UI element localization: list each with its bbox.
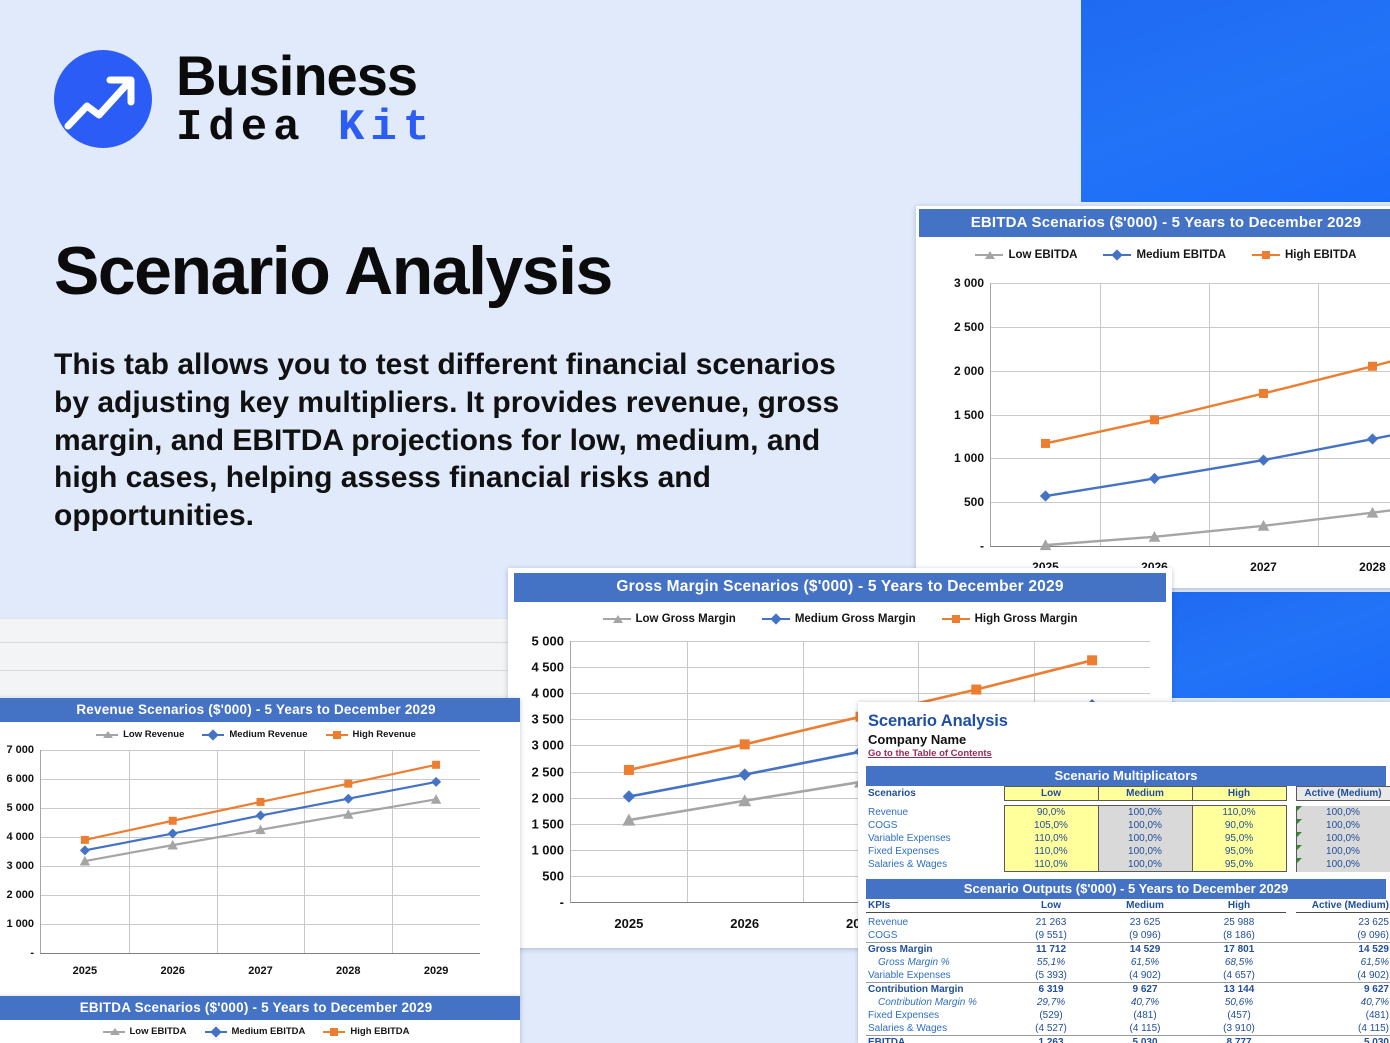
cell-active: (481): [1296, 1009, 1390, 1022]
column-header-low[interactable]: Low: [1004, 787, 1098, 801]
y-tick-label: 4 000: [6, 831, 34, 843]
data-point: [1041, 439, 1050, 448]
cell-medium: 14 529: [1098, 942, 1192, 956]
data-point: [81, 836, 89, 844]
cell-high: 50,6%: [1192, 996, 1286, 1009]
chart-legend-ebitda-bottom: Low EBITDA Medium EBITDA High EBITDA: [0, 1026, 520, 1037]
brand-name-line2-accent: Kit: [338, 103, 435, 153]
data-point: [431, 777, 441, 787]
table-scenario-outputs[interactable]: KPIs Low Medium High Active (Medium) Rev…: [866, 899, 1390, 1043]
cell-high: 17 801: [1192, 942, 1286, 956]
y-tick-label: 1 500: [531, 816, 564, 831]
row-label: Variable Expenses: [866, 832, 1004, 845]
cell-active: 5 030: [1296, 1035, 1390, 1043]
cell-medium: 5 030: [1098, 1035, 1192, 1043]
data-point: [1040, 490, 1051, 501]
cell-low: 1 263: [1004, 1035, 1098, 1043]
square-marker-icon: [1252, 250, 1280, 260]
y-tick-label: 1 500: [954, 408, 984, 422]
multiplicators-row-label: Scenarios: [866, 787, 1004, 801]
x-tick-label: 2029: [424, 965, 448, 977]
data-point: [1259, 389, 1268, 398]
legend-item-low-revenue[interactable]: Low Revenue: [96, 729, 184, 740]
row-label: Revenue: [866, 916, 1004, 929]
cell-high: 8 777: [1192, 1035, 1286, 1043]
cell-active: 61,5%: [1296, 956, 1390, 969]
y-tick-label: 3 000: [954, 276, 984, 290]
y-tick-label: 5 000: [531, 634, 564, 649]
legend-label: Low Gross Margin: [636, 613, 736, 625]
page-description: This tab allows you to test different fi…: [54, 346, 844, 535]
cell-high: (457): [1192, 1009, 1286, 1022]
cell-low: (4 527): [1004, 1022, 1098, 1036]
cell-medium: 23 625: [1098, 916, 1192, 929]
y-tick-label: 1 000: [954, 451, 984, 465]
legend-item-high-gross-margin[interactable]: High Gross Margin: [942, 613, 1078, 625]
table-row[interactable]: Revenue 21 263 23 625 25 988 23 625: [866, 916, 1390, 929]
cell-high: (3 910): [1192, 1022, 1286, 1036]
row-label: Salaries & Wages: [866, 858, 1004, 872]
chart-plot-revenue: -1 0002 0003 0004 0005 0006 0007 000 202…: [0, 740, 520, 980]
y-tick-label: 7 000: [6, 744, 34, 756]
data-point: [1368, 362, 1377, 371]
legend-label: Medium EBITDA: [232, 1026, 306, 1037]
cell-low: 6 319: [1004, 982, 1098, 996]
cell-medium: (4 115): [1098, 1022, 1192, 1036]
data-point: [1258, 454, 1269, 465]
row-label: COGS: [866, 929, 1004, 943]
cell-active: 9 627: [1296, 982, 1390, 996]
table-row-header: KPIs Low Medium High Active (Medium): [866, 899, 1390, 913]
legend-item-high-ebitda[interactable]: High EBITDA: [1252, 249, 1357, 261]
cell-medium[interactable]: 100,0%: [1098, 819, 1192, 832]
cell-low[interactable]: 110,0%: [1004, 858, 1098, 872]
cell-medium[interactable]: 100,0%: [1098, 845, 1192, 858]
data-point: [168, 829, 178, 839]
column-header-medium[interactable]: Medium: [1098, 787, 1192, 801]
cell-high: 25 988: [1192, 916, 1286, 929]
column-header-low: Low: [1004, 899, 1098, 913]
data-point: [971, 685, 981, 695]
table-row[interactable]: Gross Margin % 55,1% 61,5% 68,5% 61,5%: [866, 956, 1390, 969]
scenario-analysis-spreadsheet-panel[interactable]: Scenario Analysis Company Name Go to the…: [858, 702, 1390, 1043]
chart-plot-ebitda: -5001 0001 5002 0002 5003 000 2025202620…: [916, 261, 1390, 561]
column-header-high: High: [1192, 899, 1286, 913]
y-tick-label: 2 000: [954, 364, 984, 378]
series-line-high-ebitda: [1046, 337, 1390, 443]
page-title: Scenario Analysis: [54, 232, 854, 310]
brand-name-line2-dark: Idea: [176, 103, 306, 153]
cell-high: 13 144: [1192, 982, 1286, 996]
cell-low: 11 712: [1004, 942, 1098, 956]
y-tick-label: 4 500: [531, 660, 564, 675]
sheet-company-name: Company Name: [858, 731, 1390, 747]
cell-low: 55,1%: [1004, 956, 1098, 969]
table-row[interactable]: Salaries & Wages (4 527) (4 115) (3 910)…: [866, 1022, 1390, 1036]
y-tick-label: 500: [542, 868, 564, 883]
cell-medium: 9 627: [1098, 982, 1192, 996]
chart-title-revenue: Revenue Scenarios ($'000) - 5 Years to D…: [0, 698, 520, 722]
row-label: Contribution Margin: [866, 982, 1004, 996]
band-scenario-multiplicators: Scenario Multiplicators: [866, 766, 1386, 786]
decorative-blue-block-top-right: [1081, 0, 1390, 202]
y-tick-label: 5 000: [6, 802, 34, 814]
cell-high[interactable]: 95,0%: [1192, 832, 1286, 845]
legend-label: High EBITDA: [1285, 249, 1357, 261]
data-point: [624, 765, 634, 775]
data-point: [80, 845, 90, 855]
cell-low: 29,7%: [1004, 996, 1098, 1009]
legend-item-medium-gross-margin[interactable]: Medium Gross Margin: [762, 613, 916, 625]
column-header-high[interactable]: High: [1192, 787, 1286, 801]
cell-low[interactable]: 90,0%: [1004, 806, 1098, 820]
data-point: [738, 768, 751, 781]
legend-label: Medium EBITDA: [1136, 249, 1225, 261]
y-tick-label: 3 000: [531, 738, 564, 753]
x-tick-label: 2025: [614, 916, 643, 931]
cell-active: 14 529: [1296, 942, 1390, 956]
table-scenario-multiplicators[interactable]: Scenarios Low Medium High Active (Medium…: [866, 786, 1390, 872]
cell-high[interactable]: 95,0%: [1192, 858, 1286, 872]
y-tick-label: -: [980, 539, 984, 553]
y-tick-label: 4 000: [531, 686, 564, 701]
sheet-title: Scenario Analysis: [858, 702, 1390, 731]
row-label: Fixed Expenses: [866, 845, 1004, 858]
row-label: Variable Expenses: [866, 969, 1004, 983]
triangle-marker-icon: [103, 1027, 125, 1037]
decorative-blue-block-middle-right: [1170, 592, 1390, 698]
diamond-marker-icon: [202, 730, 224, 740]
x-tick-label: 2028: [336, 965, 360, 977]
legend-label: Low Revenue: [123, 729, 184, 740]
chart-title-ebitda: EBITDA Scenarios ($'000) - 5 Years to De…: [919, 209, 1390, 237]
table-row[interactable]: Fixed Expenses (529) (481) (457) (481): [866, 1009, 1390, 1022]
outputs-row-label: KPIs: [866, 899, 1004, 913]
cell-high: 68,5%: [1192, 956, 1286, 969]
cell-low: (5 393): [1004, 969, 1098, 983]
legend-item-low-gross-margin[interactable]: Low Gross Margin: [603, 613, 736, 625]
x-tick-label: 2026: [730, 916, 759, 931]
y-tick-label: 2 500: [531, 764, 564, 779]
legend-item-medium-ebitda[interactable]: Medium EBITDA: [1103, 249, 1225, 261]
table-row[interactable]: Salaries & Wages 110,0% 100,0% 95,0% 100…: [866, 858, 1390, 872]
square-marker-icon: [326, 730, 348, 740]
cell-active: (4 115): [1296, 1022, 1390, 1036]
cell-high[interactable]: 95,0%: [1192, 845, 1286, 858]
cell-high: (4 657): [1192, 969, 1286, 983]
plot-area-ebitda: 20252026202720282029: [990, 283, 1390, 547]
y-tick-label: 500: [964, 495, 984, 509]
data-point: [740, 739, 750, 749]
growth-arrow-icon: [54, 50, 152, 148]
cell-medium: 40,7%: [1098, 996, 1192, 1009]
plot-area-revenue: 20252026202720282029: [40, 750, 480, 954]
cell-high: (8 186): [1192, 929, 1286, 943]
column-header-medium: Medium: [1098, 899, 1192, 913]
row-label: Gross Margin: [866, 942, 1004, 956]
y-tick-label: 1 000: [531, 842, 564, 857]
cell-low[interactable]: 110,0%: [1004, 832, 1098, 845]
cell-medium: (481): [1098, 1009, 1192, 1022]
cell-active: 23 625: [1296, 916, 1390, 929]
row-label: Contribution Margin %: [866, 996, 1004, 1009]
brand-logo: Business Idea Kit: [54, 48, 854, 150]
cell-active[interactable]: 100,0%: [1296, 845, 1390, 858]
series-line-low-ebitda: [1046, 499, 1390, 545]
table-row[interactable]: EBITDA 1 263 5 030 8 777 5 030: [866, 1035, 1390, 1043]
data-point: [344, 780, 352, 788]
legend-item-low-ebitda[interactable]: Low EBITDA: [975, 249, 1077, 261]
cell-active: 40,7%: [1296, 996, 1390, 1009]
data-point: [1367, 433, 1378, 444]
diamond-marker-icon: [762, 614, 790, 624]
diamond-marker-icon: [205, 1027, 227, 1037]
cell-medium[interactable]: 100,0%: [1098, 858, 1192, 872]
cell-medium[interactable]: 100,0%: [1098, 832, 1192, 845]
chart-card-ebitda-bottom[interactable]: EBITDA Scenarios ($'000) - 5 Years to De…: [0, 996, 520, 1043]
data-point: [1149, 473, 1160, 484]
cell-high[interactable]: 110,0%: [1192, 806, 1286, 820]
data-point: [432, 761, 440, 769]
hero-section: Business Idea Kit Scenario Analysis This…: [54, 48, 854, 535]
cell-active[interactable]: 100,0%: [1296, 806, 1390, 820]
table-row[interactable]: COGS (9 551) (9 096) (8 186) (9 096): [866, 929, 1390, 943]
cell-active: (9 096): [1296, 929, 1390, 943]
x-tick-label: 2028: [1359, 560, 1386, 574]
table-row[interactable]: Revenue 90,0% 100,0% 110,0% 100,0%: [866, 806, 1390, 820]
chart-title-ebitda-bottom: EBITDA Scenarios ($'000) - 5 Years to De…: [0, 996, 520, 1020]
row-label: Gross Margin %: [866, 956, 1004, 969]
y-tick-label: 1 000: [6, 918, 34, 930]
chart-card-ebitda[interactable]: EBITDA Scenarios ($'000) - 5 Years to De…: [916, 206, 1390, 588]
row-label: Salaries & Wages: [866, 1022, 1004, 1036]
band-scenario-outputs: Scenario Outputs ($'000) - 5 Years to De…: [866, 879, 1386, 899]
legend-label: Medium Revenue: [229, 729, 307, 740]
table-row-header: Scenarios Low Medium High Active (Medium…: [866, 787, 1390, 801]
y-tick-label: 2 000: [6, 889, 34, 901]
column-header-active[interactable]: Active (Medium): [1296, 787, 1390, 801]
table-of-contents-link[interactable]: Go to the Table of Contents: [858, 747, 1390, 759]
cell-medium[interactable]: 100,0%: [1098, 806, 1192, 820]
table-row[interactable]: Contribution Margin 6 319 9 627 13 144 9…: [866, 982, 1390, 996]
cell-high[interactable]: 90,0%: [1192, 819, 1286, 832]
table-row[interactable]: COGS 105,0% 100,0% 90,0% 100,0%: [866, 819, 1390, 832]
cell-medium: 61,5%: [1098, 956, 1192, 969]
legend-item-low-ebitda-bottom[interactable]: Low EBITDA: [103, 1026, 187, 1037]
row-label: Revenue: [866, 806, 1004, 820]
square-marker-icon: [323, 1027, 345, 1037]
y-tick-label: -: [560, 895, 564, 910]
cell-low: (529): [1004, 1009, 1098, 1022]
triangle-marker-icon: [975, 250, 1003, 260]
data-point: [257, 798, 265, 806]
diamond-marker-icon: [1103, 250, 1131, 260]
row-label: Fixed Expenses: [866, 1009, 1004, 1022]
x-tick-label: 2025: [73, 965, 97, 977]
chart-card-revenue[interactable]: Revenue Scenarios ($'000) - 5 Years to D…: [0, 698, 520, 998]
legend-item-medium-ebitda-bottom[interactable]: Medium EBITDA: [205, 1026, 306, 1037]
cell-active[interactable]: 100,0%: [1296, 858, 1390, 872]
row-label: EBITDA: [866, 1035, 1004, 1043]
data-point: [343, 794, 353, 804]
x-tick-label: 2027: [248, 965, 272, 977]
y-tick-label: -: [30, 947, 34, 959]
triangle-marker-icon: [96, 730, 118, 740]
chart-legend-revenue: Low Revenue Medium Revenue High Revenue: [0, 729, 520, 740]
x-tick-label: 2027: [1250, 560, 1277, 574]
legend-item-high-revenue[interactable]: High Revenue: [326, 729, 416, 740]
brand-name-line1: Business: [176, 48, 435, 104]
chart-title-gross-margin: Gross Margin Scenarios ($'000) - 5 Years…: [514, 573, 1166, 602]
cell-active[interactable]: 100,0%: [1296, 819, 1390, 832]
cell-active: (4 902): [1296, 969, 1390, 983]
cell-low: (9 551): [1004, 929, 1098, 943]
table-row[interactable]: Variable Expenses (5 393) (4 902) (4 657…: [866, 969, 1390, 983]
legend-label: Low EBITDA: [130, 1026, 187, 1037]
x-tick-label: 2026: [160, 965, 184, 977]
square-marker-icon: [942, 614, 970, 624]
series-layer: [41, 750, 480, 953]
cell-medium: (9 096): [1098, 929, 1192, 943]
chart-legend-ebitda: Low EBITDA Medium EBITDA High EBITDA: [916, 249, 1390, 261]
series-line-medium-ebitda: [1046, 417, 1390, 496]
data-point: [1087, 655, 1097, 665]
table-row[interactable]: Variable Expenses 110,0% 100,0% 95,0% 10…: [866, 832, 1390, 845]
series-layer: [991, 283, 1390, 546]
y-tick-label: 2 500: [954, 320, 984, 334]
y-tick-label: 2 000: [531, 790, 564, 805]
y-tick-label: 3 000: [6, 860, 34, 872]
y-tick-label: 3 500: [531, 712, 564, 727]
cell-low: 21 263: [1004, 916, 1098, 929]
data-point: [256, 811, 266, 821]
legend-label: High EBITDA: [350, 1026, 409, 1037]
cell-medium: (4 902): [1098, 969, 1192, 983]
row-label: COGS: [866, 819, 1004, 832]
data-point: [169, 817, 177, 825]
y-tick-label: 6 000: [6, 773, 34, 785]
legend-label: Low EBITDA: [1008, 249, 1077, 261]
cell-low[interactable]: 110,0%: [1004, 845, 1098, 858]
column-header-active: Active (Medium): [1296, 899, 1390, 913]
legend-item-medium-revenue[interactable]: Medium Revenue: [202, 729, 307, 740]
table-row[interactable]: Contribution Margin % 29,7% 40,7% 50,6% …: [866, 996, 1390, 1009]
data-point: [623, 790, 636, 803]
y-axis-ebitda: -5001 0001 5002 0002 5003 000: [916, 261, 990, 561]
legend-label: High Gross Margin: [975, 613, 1078, 625]
legend-label: High Revenue: [353, 729, 416, 740]
legend-label: Medium Gross Margin: [795, 613, 916, 625]
y-axis-revenue: -1 0002 0003 0004 0005 0006 0007 000: [0, 740, 40, 980]
table-row[interactable]: Gross Margin 11 712 14 529 17 801 14 529: [866, 942, 1390, 956]
cell-low[interactable]: 105,0%: [1004, 819, 1098, 832]
cell-active[interactable]: 100,0%: [1296, 832, 1390, 845]
data-point: [1150, 415, 1159, 424]
chart-legend-gross-margin: Low Gross Margin Medium Gross Margin Hig…: [508, 613, 1172, 625]
triangle-marker-icon: [603, 614, 631, 624]
legend-item-high-ebitda-bottom[interactable]: High EBITDA: [323, 1026, 409, 1037]
table-row[interactable]: Fixed Expenses 110,0% 100,0% 95,0% 100,0…: [866, 845, 1390, 858]
